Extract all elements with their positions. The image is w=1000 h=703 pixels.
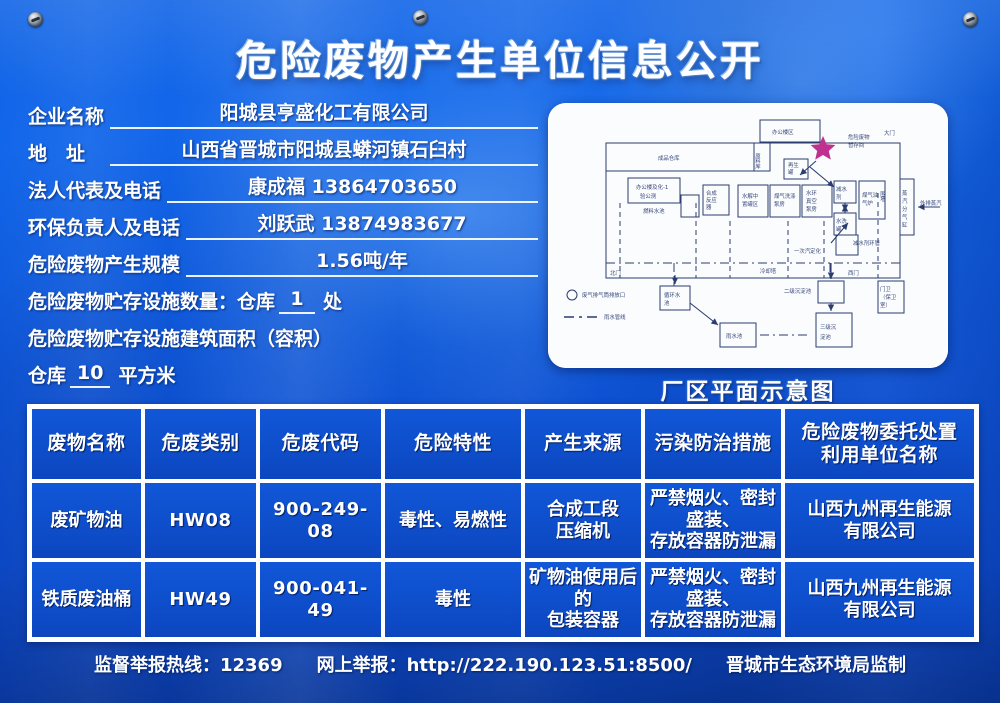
svg-text:真空: 真空 [806, 197, 817, 205]
cell-unit-line2: 有限公司 [788, 600, 971, 622]
cell-source-line2: 压缩机 [528, 521, 638, 543]
screw-top-left [28, 12, 43, 27]
svg-text:煤气油: 煤气油 [862, 191, 878, 199]
company-info-block: 企业名称 阳城县亨盛化工有限公司 地址 山西省晋城市阳城县蟒河镇石臼村 法人代表… [28, 96, 538, 392]
svg-text:循环水: 循环水 [664, 291, 681, 299]
svg-text:北门: 北门 [610, 269, 621, 277]
info-row-facility-count: 危险废物贮存设施数量：仓库 1 处 [28, 281, 538, 314]
hazardous-waste-table: 废物名称 危废类别 危废代码 危险特性 产生来源 污染防治措施 危险废物委托处置… [27, 404, 979, 642]
header-waste-code: 危废代码 [258, 407, 383, 481]
header-hazard-property: 危险特性 [383, 407, 523, 481]
site-plan-panel: 成品仓库 原料库 办公楼区 危险废物 暂存间 再生 罐 办公楼及化-1 验公测 … [548, 103, 948, 368]
cell-hazard-property: 毒性、易燃性 [383, 481, 523, 560]
svg-text:二级沉淀池: 二级沉淀池 [784, 287, 812, 295]
header-disposal-unit-line2: 利用单位名称 [788, 444, 971, 467]
svg-text:泵房: 泵房 [774, 200, 785, 208]
svg-text:（保卫: （保卫 [880, 293, 897, 301]
svg-text:室）: 室） [880, 301, 891, 309]
header-disposal-unit: 危险废物委托处置 利用单位名称 [783, 407, 976, 481]
cell-unit-line1: 山西九州再生能源 [788, 499, 971, 521]
header-waste-name: 废物名称 [30, 407, 143, 481]
svg-text:水洗: 水洗 [836, 217, 847, 225]
cell-disposal-unit: 山西九州再生能源 有限公司 [783, 481, 976, 560]
svg-text:泵房: 泵房 [806, 205, 817, 213]
area-value: 10 [70, 362, 110, 388]
cell-control-measure: 严禁烟火、密封盛装、 存放容器防泄漏 [643, 481, 783, 560]
info-row-address: 地址 山西省晋城市阳城县蟒河镇石臼村 [28, 133, 538, 166]
svg-text:废气排气筒排放口: 废气排气筒排放口 [582, 291, 625, 299]
scale-value: 1.56吨/年 [186, 246, 538, 277]
cell-waste-name: 铁质废油桶 [30, 560, 143, 639]
legal-rep-label: 法人代表及电话 [28, 176, 161, 203]
cell-measure-line1: 严禁烟火、密封盛装、 [648, 488, 778, 532]
svg-text:水解中: 水解中 [742, 192, 758, 200]
area-unit: 平方米 [114, 361, 175, 388]
env-officer-label: 环保负责人及电话 [28, 213, 180, 240]
svg-text:办公楼区: 办公楼区 [772, 128, 794, 136]
cell-control-measure: 严禁烟火、密封盛装、 存放容器防泄漏 [643, 560, 783, 639]
cell-source: 合成工段 压缩机 [523, 481, 643, 560]
svg-text:原料库: 原料库 [754, 153, 761, 171]
cell-waste-category: HW49 [143, 560, 258, 639]
cell-unit-line2: 有限公司 [788, 521, 971, 543]
facility-count-unit: 处 [319, 287, 342, 314]
info-row-area-label: 危险废物贮存设施建筑面积（容积） [28, 318, 538, 351]
svg-text:气: 气 [902, 213, 908, 221]
legal-rep-value: 康成福 13864703650 [167, 172, 538, 203]
svg-text:池: 池 [664, 299, 670, 307]
svg-text:验公测: 验公测 [640, 192, 656, 200]
svg-text:气炉: 气炉 [862, 199, 873, 207]
svg-text:门卫: 门卫 [880, 285, 891, 293]
table-header-row: 废物名称 危废类别 危废代码 危险特性 产生来源 污染防治措施 危险废物委托处置… [30, 407, 976, 481]
facility-count-label: 危险废物贮存设施数量：仓库 [28, 287, 275, 314]
svg-text:罐: 罐 [788, 168, 794, 176]
info-row-scale: 危险废物产生规模 1.56吨/年 [28, 244, 538, 277]
cell-waste-name: 废矿物油 [30, 481, 143, 560]
company-label: 企业名称 [28, 102, 104, 129]
svg-text:三级沉: 三级沉 [820, 323, 837, 331]
svg-text:成品仓库: 成品仓库 [658, 154, 680, 162]
cell-source: 矿物油使用后的 包装容器 [523, 560, 643, 639]
address-value: 山西省晋城市阳城县蟒河镇石臼村 [110, 135, 538, 166]
table-row: 铁质废油桶 HW49 900-041-49 毒性 矿物油使用后的 包装容器 严禁… [30, 560, 976, 639]
area-label: 危险废物贮存设施建筑面积（容积） [28, 324, 332, 351]
svg-text:分: 分 [902, 205, 908, 213]
cell-measure-line2: 存放容器防泄漏 [648, 610, 778, 632]
cell-waste-category: HW08 [143, 481, 258, 560]
area-prefix: 仓库 [28, 361, 66, 388]
address-label: 地址 [28, 139, 104, 166]
site-plan-diagram: 成品仓库 原料库 办公楼区 危险废物 暂存间 再生 罐 办公楼及化-1 验公测 … [548, 103, 948, 368]
svg-text:围墙: 围墙 [879, 191, 886, 203]
info-row-area-value: 仓库 10 平方米 [28, 355, 538, 388]
screw-top-right [963, 12, 978, 27]
footer-bar: 监督举报热线：12369 网上举报：http://222.190.123.51:… [0, 651, 1000, 677]
header-waste-category: 危废类别 [143, 407, 258, 481]
svg-text:剂: 剂 [836, 193, 841, 201]
cell-measure-line2: 存放容器防泄漏 [648, 531, 778, 553]
header-source: 产生来源 [523, 407, 643, 481]
information-disclosure-board: 危险废物产生单位信息公开 企业名称 阳城县亨盛化工有限公司 地址 山西省晋城市阳… [0, 0, 1000, 703]
svg-text:蒸: 蒸 [902, 189, 908, 197]
svg-text:大门: 大门 [884, 129, 895, 137]
svg-text:外排蒸汽: 外排蒸汽 [920, 199, 942, 207]
svg-text:燃料水池: 燃料水池 [643, 207, 665, 215]
svg-text:水环: 水环 [806, 189, 817, 197]
info-row-company: 企业名称 阳城县亨盛化工有限公司 [28, 96, 538, 129]
svg-text:办公楼及化-1: 办公楼及化-1 [636, 183, 668, 191]
svg-text:置罐区: 置罐区 [742, 200, 759, 208]
cell-hazard-property: 毒性 [383, 560, 523, 639]
info-row-legal-rep: 法人代表及电话 康成福 13864703650 [28, 170, 538, 203]
facility-count-value: 1 [279, 288, 315, 314]
cell-waste-code: 900-041-49 [258, 560, 383, 639]
svg-text:冷却塔: 冷却塔 [760, 267, 777, 275]
svg-text:减水: 减水 [836, 185, 847, 193]
svg-text:汽: 汽 [902, 197, 908, 205]
cell-waste-code: 900-249-08 [258, 481, 383, 560]
cell-source-line2: 包装容器 [528, 610, 638, 632]
hazardous-waste-star-marker [811, 136, 836, 160]
svg-text:器: 器 [706, 204, 712, 211]
env-officer-value: 刘跃武 13874983677 [186, 209, 538, 240]
header-disposal-unit-line1: 危险废物委托处置 [788, 421, 971, 444]
footer-online-report: 网上举报：http://222.190.123.51:8500/ [317, 651, 692, 677]
svg-text:危险废物: 危险废物 [848, 133, 870, 141]
svg-text:雨水池: 雨水池 [726, 332, 743, 340]
svg-text:反应: 反应 [706, 196, 717, 204]
page-title: 危险废物产生单位信息公开 [0, 27, 1000, 87]
table-row: 废矿物油 HW08 900-249-08 毒性、易燃性 合成工段 压缩机 严禁烟… [30, 481, 976, 560]
svg-text:罐: 罐 [836, 225, 842, 233]
cell-measure-line1: 严禁烟火、密封盛装、 [648, 567, 778, 611]
footer-authority: 晋城市生态环境局监制 [726, 651, 906, 677]
svg-text:一次汽定化: 一次汽定化 [794, 247, 822, 255]
svg-text:暂存间: 暂存间 [848, 141, 864, 149]
footer-hotline: 监督举报热线：12369 [94, 651, 283, 677]
cell-source-line1: 合成工段 [528, 499, 638, 521]
company-value: 阳城县亨盛化工有限公司 [110, 98, 538, 129]
svg-text:减水剂环管: 减水剂环管 [853, 239, 881, 247]
header-control-measure: 污染防治措施 [643, 407, 783, 481]
cell-unit-line1: 山西九州再生能源 [788, 578, 971, 600]
svg-text:淀池: 淀池 [820, 333, 831, 341]
site-plan-caption: 厂区平面示意图 [548, 372, 948, 406]
svg-text:雨水管线: 雨水管线 [604, 313, 626, 321]
svg-text:缸: 缸 [902, 221, 908, 229]
svg-text:合成: 合成 [706, 189, 717, 197]
svg-text:煤气洗涤: 煤气洗涤 [774, 192, 796, 200]
svg-text:再生: 再生 [788, 161, 799, 169]
screw-top-center [413, 10, 428, 25]
scale-label: 危险废物产生规模 [28, 250, 180, 277]
info-row-env-officer: 环保负责人及电话 刘跃武 13874983677 [28, 207, 538, 240]
svg-text:西门: 西门 [848, 269, 859, 277]
cell-source-line1: 矿物油使用后的 [528, 567, 638, 611]
cell-disposal-unit: 山西九州再生能源 有限公司 [783, 560, 976, 639]
